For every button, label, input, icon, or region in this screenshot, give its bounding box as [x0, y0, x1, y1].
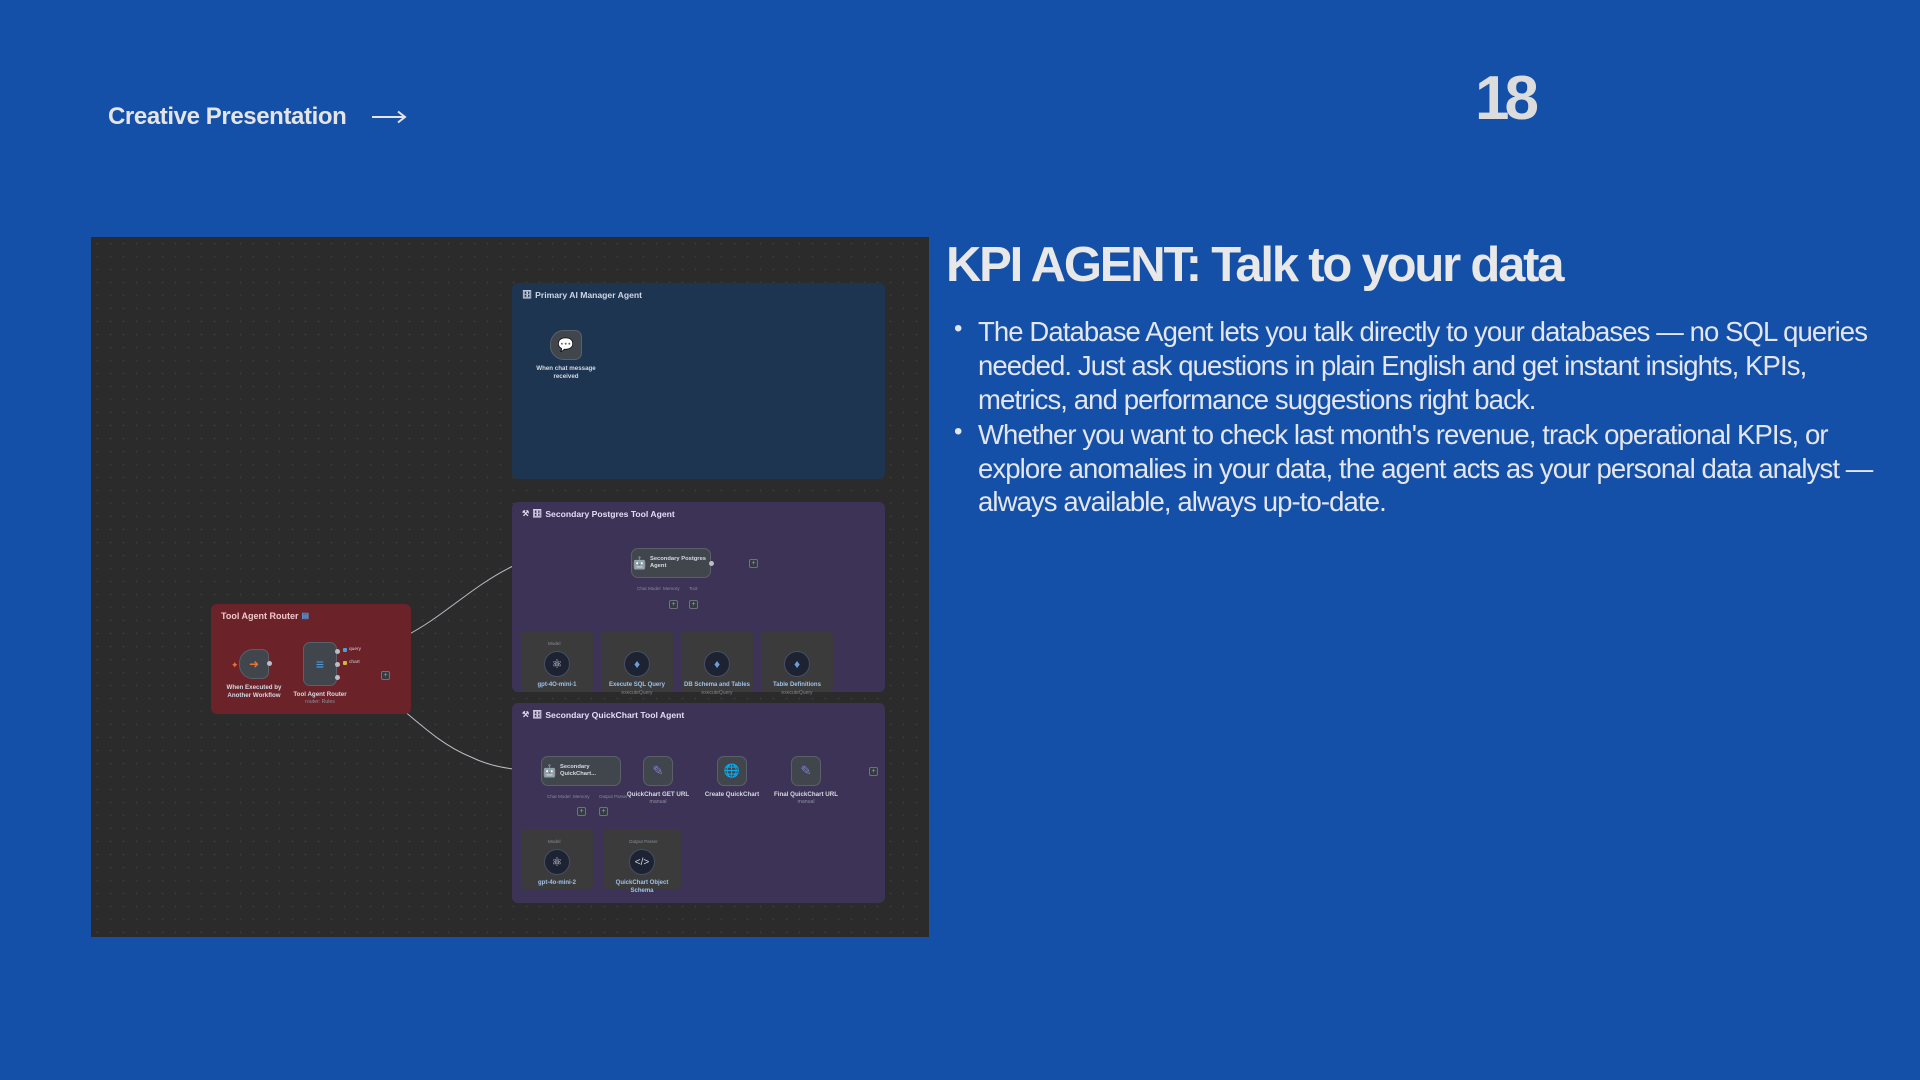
output-swatch — [343, 648, 347, 652]
page-number: 18 — [1475, 68, 1534, 130]
edit-pencil-icon: ✎ — [653, 763, 664, 779]
add-node-button[interactable]: + — [749, 559, 758, 568]
workflow-group-icon: 🗄 — [522, 291, 532, 299]
brand-label: Creative Presentation — [108, 103, 346, 131]
node-label: QuickChart Object Schema — [609, 880, 675, 896]
node-label: gpt-4O-mini-1 — [538, 682, 577, 690]
workflow-group-icon: 🗄 — [532, 510, 542, 518]
port-label-model: Model — [548, 641, 561, 646]
chat-bubble-icon: 💬 — [558, 337, 574, 353]
node-label: Tool Agent Router router: Rules — [293, 691, 346, 705]
globe-icon: 🌐 — [724, 763, 740, 779]
node-label: QuickChart GET URL manual — [627, 791, 689, 805]
port-label-memory: Memory — [573, 794, 590, 799]
node-quickchart-get-url[interactable]: ✎ QuickChart GET URL manual — [643, 756, 673, 786]
code-icon: </> — [635, 857, 649, 868]
openai-icon: ⚛ — [552, 855, 563, 869]
port-label-output-parser: Output Parser — [599, 794, 628, 799]
node-label: Create QuickChart — [705, 791, 759, 799]
group-title: ⚒ 🗄 Secondary Postgres Tool Agent — [522, 509, 675, 519]
node-label: Secondary QuickChart... — [560, 764, 620, 778]
node-create-quickchart[interactable]: 🌐 Create QuickChart — [717, 756, 747, 786]
port-label-tool: Tool — [689, 586, 697, 591]
connector-dot-output-query — [335, 649, 340, 654]
output-tag-chart: chart — [343, 660, 360, 665]
node-execute-sql-query[interactable]: ♦ Execute SQL Query executeQuery — [624, 651, 650, 677]
node-label: When chat message received — [531, 365, 601, 381]
page-title: KPI AGENT: Talk to your data — [946, 240, 1876, 291]
list-item: Whether you want to check last month's r… — [946, 418, 1876, 519]
postgres-icon: ♦ — [794, 657, 800, 671]
list-item: The Database Agent lets you talk directl… — [946, 315, 1876, 416]
node-when-chat-message-received[interactable]: 💬 When chat message received — [550, 330, 582, 360]
edit-pencil-icon: ✎ — [801, 763, 812, 779]
robot-icon: 🤖 — [542, 764, 557, 778]
port-label-output-parser: Output Parser — [629, 839, 658, 844]
tools-icon: ⚒ — [522, 711, 529, 719]
node-gpt-4o-mini-1[interactable]: ⚛ gpt-4O-mini-1 — [544, 651, 570, 677]
node-label: Secondary Postgres Agent — [650, 556, 710, 570]
port-label-memory: Memory — [663, 586, 680, 591]
workflow-group-icon: 🗄 — [532, 711, 542, 719]
workflow-canvas-screenshot: 🗄 Primary AI Manager Agent 💬 When chat m… — [91, 237, 929, 937]
node-db-schema-and-tables[interactable]: ♦ DB Schema and Tables executeQuery — [704, 651, 730, 677]
node-secondary-postgres-agent[interactable]: 🤖 Secondary Postgres Agent — [631, 548, 711, 578]
arrow-right-icon — [372, 110, 408, 124]
add-node-button[interactable]: + — [381, 671, 390, 680]
add-node-button[interactable]: + — [599, 807, 608, 816]
slide-header: Creative Presentation — [108, 103, 408, 131]
execute-workflow-icon: ➜ — [249, 657, 259, 671]
add-node-button[interactable]: + — [689, 600, 698, 609]
node-label: Final QuickChart URL manual — [774, 791, 838, 805]
output-swatch — [343, 661, 347, 665]
trigger-spark-icon: ✦ — [231, 661, 239, 670]
connector-dot — [267, 661, 272, 666]
group-title: ⚒ 🗄 Secondary QuickChart Tool Agent — [522, 710, 684, 720]
tools-icon: ⚒ — [522, 510, 529, 518]
node-table-definitions[interactable]: ♦ Table Definitions executeQuery — [784, 651, 810, 677]
node-label: When Executed by Another Workflow — [219, 684, 289, 700]
add-node-button[interactable]: + — [669, 600, 678, 609]
node-label: Execute SQL Query executeQuery — [604, 682, 670, 696]
output-tag-query: query — [343, 647, 361, 652]
node-gpt-4o-mini-2[interactable]: ⚛ gpt-4o-mini-2 — [544, 849, 570, 875]
switch-icon: ▤ — [302, 612, 310, 620]
openai-icon: ⚛ — [552, 657, 563, 671]
port-label-chat-model: Chat Model — [547, 794, 571, 799]
node-when-executed-by-another-workflow[interactable]: ➜ When Executed by Another Workflow — [239, 649, 269, 679]
node-final-quickchart-url[interactable]: ✎ Final QuickChart URL manual — [791, 756, 821, 786]
switch-icon: ≡ — [316, 656, 324, 672]
add-node-button[interactable]: + — [577, 807, 586, 816]
node-secondary-quickchart-agent[interactable]: 🤖 Secondary QuickChart... — [541, 756, 621, 786]
connector-dot-output-fallback — [335, 675, 340, 680]
group-title: 🗄 Primary AI Manager Agent — [522, 290, 642, 300]
connector-dot-output-chart — [335, 662, 340, 667]
add-node-button[interactable]: + — [869, 767, 878, 776]
content-column: KPI AGENT: Talk to your data The Databas… — [946, 240, 1876, 521]
node-label: DB Schema and Tables executeQuery — [684, 682, 750, 696]
node-quickchart-object-schema[interactable]: </> QuickChart Object Schema — [629, 849, 655, 875]
postgres-icon: ♦ — [634, 657, 640, 671]
group-primary-ai-manager-agent[interactable]: 🗄 Primary AI Manager Agent — [512, 283, 885, 479]
port-label-chat-model: Chat Model — [637, 586, 661, 591]
port-label-model: Model — [548, 839, 561, 844]
node-label: gpt-4o-mini-2 — [538, 880, 576, 888]
connector-dot — [709, 561, 714, 566]
postgres-icon: ♦ — [714, 657, 720, 671]
node-label: Table Definitions executeQuery — [764, 682, 830, 696]
node-tool-agent-router[interactable]: ≡ Tool Agent Router router: Rules — [303, 642, 337, 686]
robot-icon: 🤖 — [632, 556, 647, 570]
group-title: Tool Agent Router ▤ — [221, 611, 309, 621]
bullet-list: The Database Agent lets you talk directl… — [946, 315, 1876, 518]
